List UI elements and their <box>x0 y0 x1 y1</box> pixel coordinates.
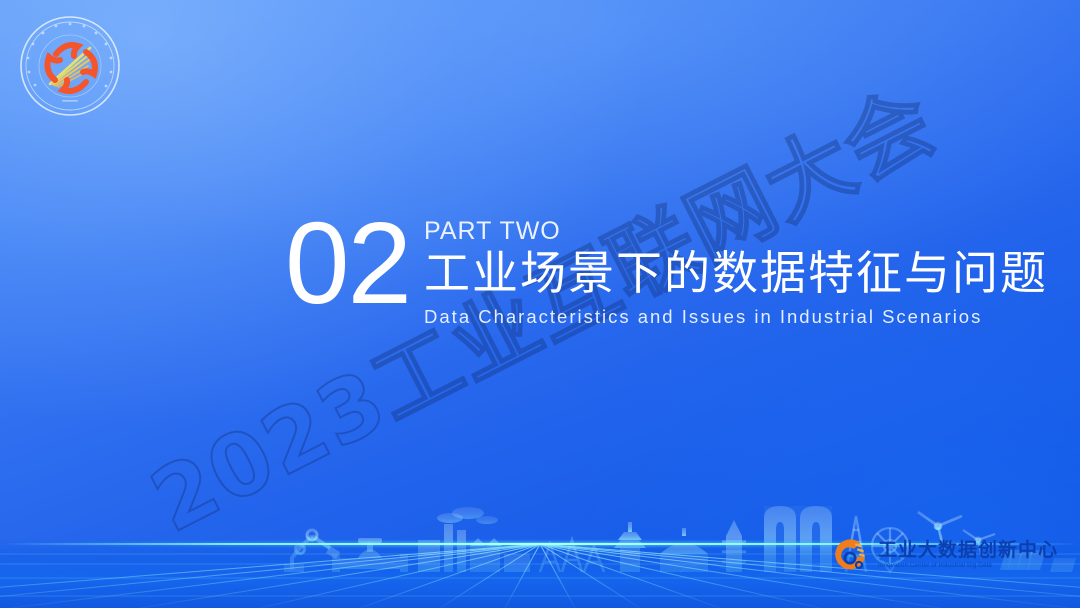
page-subtitle: Data Characteristics and Issues in Indus… <box>424 306 1048 328</box>
brand-logo: 工业大数据创新中心 Innovation Center of Industria… <box>829 534 1058 576</box>
part-label: PART TWO <box>424 218 1048 246</box>
university-emblem <box>16 14 124 118</box>
part-number: 02 <box>285 211 410 315</box>
innovation-center-mark-icon <box>829 534 871 576</box>
brand-name-cn: 工业大数据创新中心 <box>878 541 1058 561</box>
brand-name-en: Innovation Center of Industrial Big Data <box>878 562 1058 569</box>
slide-title-block: 02 PART TWO 工业场景下的数据特征与问题 Data Character… <box>285 205 1048 328</box>
page-title: 工业场景下的数据特征与问题 <box>424 248 1048 300</box>
presentation-slide: 2023工业互联网大会 <box>0 0 1080 608</box>
